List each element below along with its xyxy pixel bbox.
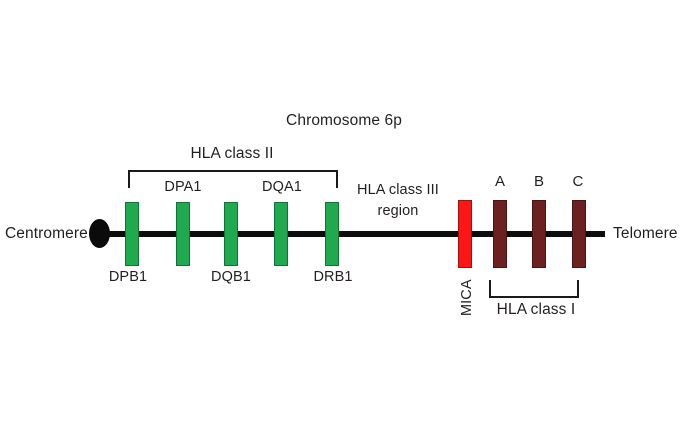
- gene-label-dqb1: DQB1: [211, 269, 251, 286]
- centromere-label: Centromere: [5, 225, 88, 243]
- gene-label-dpb1: DPB1: [109, 269, 147, 286]
- class-iii-region-label: HLA class IIIregion: [343, 180, 453, 222]
- gene-label-b: B: [534, 173, 544, 190]
- gene-label-a: A: [495, 173, 505, 190]
- telomere-label: Telomere: [613, 225, 678, 243]
- gene-bar-mica: [458, 200, 472, 268]
- figure-title: Chromosome 6p: [286, 112, 402, 130]
- class-iii-region-label-line1: HLA class III: [357, 182, 439, 198]
- gene-label-c: C: [573, 173, 584, 190]
- class-ii-bracket-label: HLA class II: [190, 145, 273, 163]
- class-iii-region-label-line2: region: [378, 203, 419, 219]
- gene-bar-b: [532, 200, 546, 268]
- class-i-bracket-label: HLA class I: [497, 301, 576, 319]
- gene-bar-dqb1: [224, 202, 238, 266]
- gene-label-dpa1: DPA1: [164, 179, 201, 196]
- gene-bar-dpb1: [125, 202, 139, 266]
- gene-bar-dqa1: [274, 202, 288, 266]
- gene-label-mica: MICA: [459, 279, 476, 316]
- gene-label-drb1: DRB1: [313, 269, 352, 286]
- gene-label-dqa1: DQA1: [262, 179, 302, 196]
- class-i-bracket: [489, 280, 579, 298]
- gene-bar-dpa1: [176, 202, 190, 266]
- gene-bar-c: [572, 200, 586, 268]
- gene-bar-drb1: [325, 202, 339, 266]
- gene-bar-a: [493, 200, 507, 268]
- class-ii-bracket: [128, 170, 338, 188]
- centromere-marker: [89, 219, 110, 248]
- mhc-region-diagram: Chromosome 6p HLA class II Centromere Te…: [0, 0, 681, 435]
